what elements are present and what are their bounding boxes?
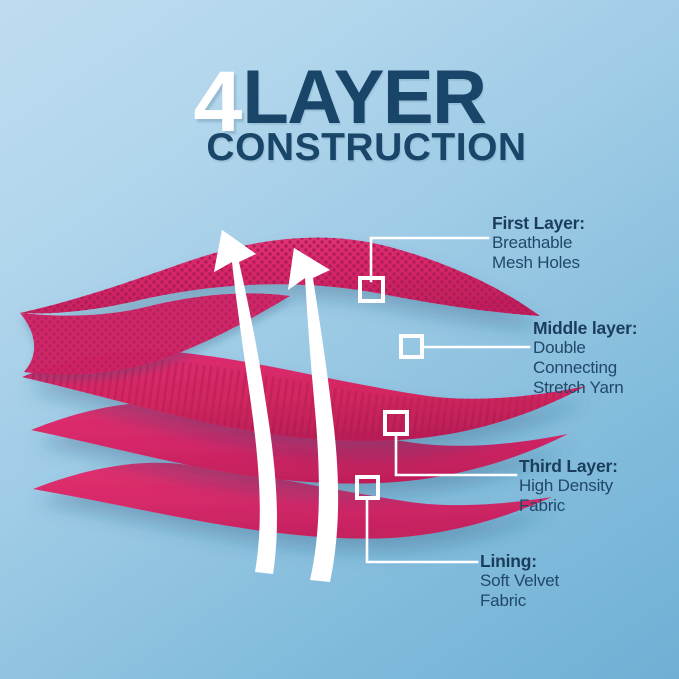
callout-heading: Middle layer: xyxy=(533,318,637,338)
infographic-canvas: 4LAYER CONSTRUCTION First Layer: Breatha… xyxy=(0,0,679,679)
callout-line: Fabric xyxy=(480,591,559,611)
callout-middle-layer: Middle layer: Double Connecting Stretch … xyxy=(533,318,637,397)
marker-middle-layer[interactable] xyxy=(401,336,422,357)
callout-line: Soft Velvet xyxy=(480,571,559,591)
callout-first-layer: First Layer: Breathable Mesh Holes xyxy=(492,213,585,273)
callout-line: Connecting xyxy=(533,358,637,378)
callout-lining: Lining: Soft Velvet Fabric xyxy=(480,551,559,611)
callout-line: Breathable xyxy=(492,233,585,253)
callout-line: High Density xyxy=(519,476,618,496)
callout-heading: Lining: xyxy=(480,551,559,571)
callout-line: Stretch Yarn xyxy=(533,378,637,398)
callout-line: Fabric xyxy=(519,496,618,516)
callout-line: Mesh Holes xyxy=(492,253,585,273)
callout-heading: First Layer: xyxy=(492,213,585,233)
callout-third-layer: Third Layer: High Density Fabric xyxy=(519,456,618,516)
callout-line: Double xyxy=(533,338,637,358)
callout-heading: Third Layer: xyxy=(519,456,618,476)
